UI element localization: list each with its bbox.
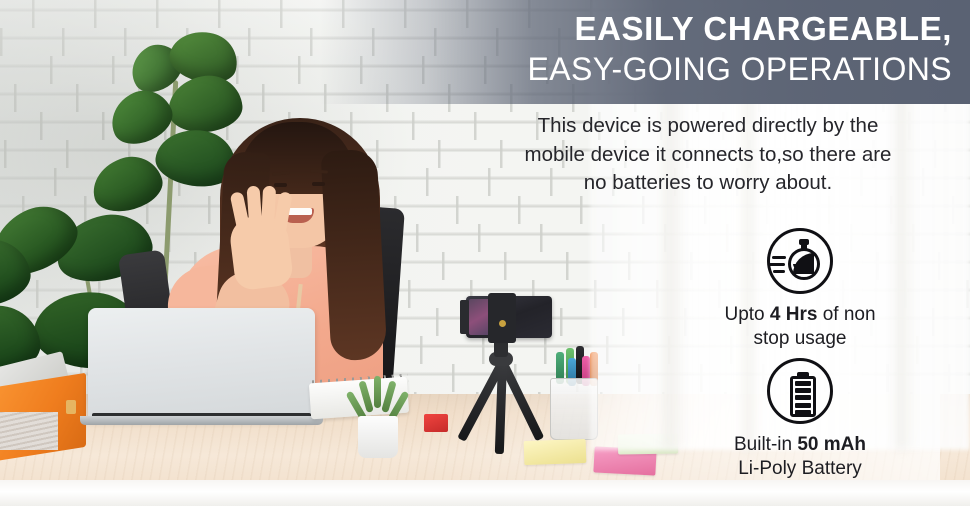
laptop [88,308,315,420]
description-line-2: mobile device it connects to,so there ar… [468,141,948,170]
phone-clamp-right [488,293,516,343]
feature-1-suffix: of non [817,304,875,325]
stopwatch-icon [767,228,833,294]
feature-battery-life: Upto 4 Hrs of non stop usage [650,228,950,352]
headline-gradient-bar: EASILY CHARGEABLE, EASY-GOING OPERATIONS [0,0,970,104]
headline-line-1: EASILY CHARGEABLE, [172,11,952,48]
feature-1-highlight: 4 Hrs [770,304,818,325]
plant-pot [358,416,398,458]
feature-battery-capacity-label: Built-in 50 mAh Li-Poly Battery [650,433,950,482]
feature-2-prefix: Built-in [734,434,797,455]
description-text: This device is powered directly by the m… [468,112,948,198]
sticky-note-yellow [524,439,587,465]
red-object [424,414,448,432]
phone-clamp-left [460,300,469,334]
laptop-base [80,416,323,425]
headline-block: EASILY CHARGEABLE, EASY-GOING OPERATIONS [172,11,952,88]
feature-battery-life-label: Upto 4 Hrs of non stop usage [650,303,950,352]
desk-front-edge [0,480,970,506]
clamp-screw [499,320,506,327]
binder-clip [66,400,76,414]
binder-papers [0,412,58,450]
feature-2-highlight: 50 mAh [797,434,866,455]
feature-2-line2: Li-Poly Battery [738,458,862,479]
promo-banner: EASILY CHARGEABLE, EASY-GOING OPERATIONS… [0,0,970,506]
description-line-3: no batteries to worry about. [468,169,948,198]
battery-icon [767,358,833,424]
headline-line-2: EASY-GOING OPERATIONS [172,50,952,88]
feature-1-line2: stop usage [754,328,847,349]
feature-battery-capacity: Built-in 50 mAh Li-Poly Battery [650,358,950,482]
description-line-1: This device is powered directly by the [468,112,948,141]
feature-1-prefix: Upto [724,304,769,325]
